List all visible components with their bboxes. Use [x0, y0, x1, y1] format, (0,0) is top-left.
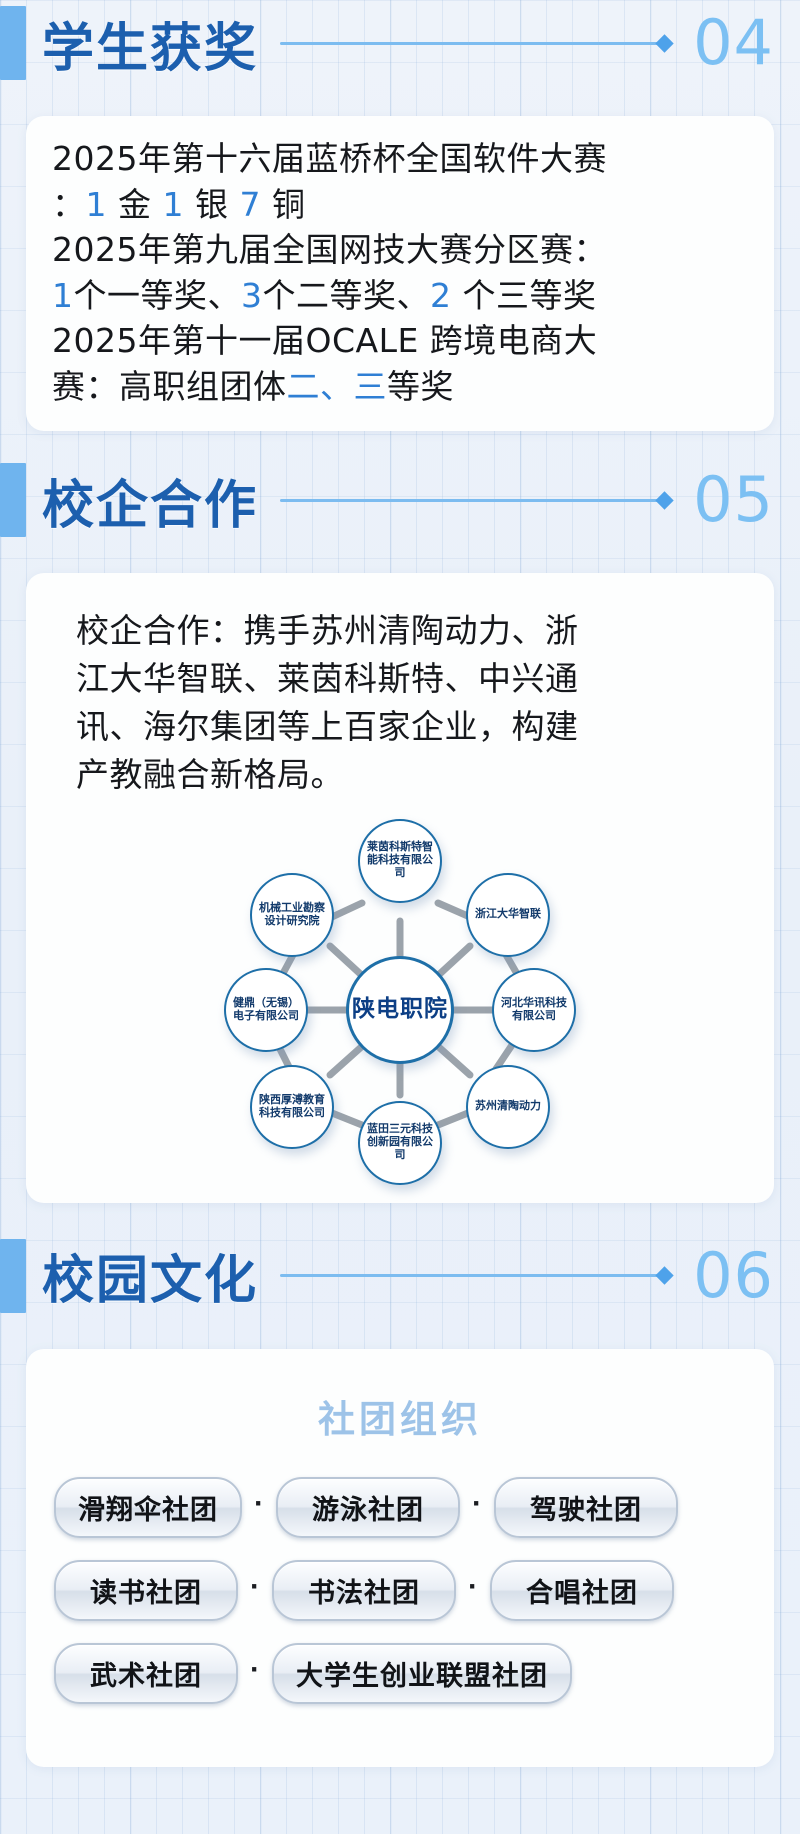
coop-line-2: 江大华智联、莱茵科斯特、中兴通 [76, 655, 740, 703]
partner-label: 陕西厚溥教育科技有限公司 [256, 1094, 328, 1120]
partner-label: 苏州清陶动力 [475, 1100, 541, 1113]
first-prize-unit: 个一等奖、 [74, 276, 242, 315]
diamond-icon [655, 1266, 673, 1284]
third-prize-count: 2 [430, 276, 452, 315]
accent-bar [0, 463, 26, 537]
header-accent-strip-05 [26, 549, 774, 563]
club-separator: · [248, 1572, 262, 1608]
club-separator: · [252, 1489, 266, 1525]
partner-node-hebei: 河北华讯科技有限公司 [492, 968, 576, 1052]
award-line-2: 2025年第九届全国网技大赛分区赛： [52, 227, 748, 273]
header-accent-strip-06 [26, 1325, 774, 1339]
club-row-1: 滑翔伞社团 · 游泳社团 · 驾驶社团 [26, 1477, 774, 1560]
partner-node-center-school: 陕电职院 [346, 956, 454, 1064]
silver-count: 1 [162, 185, 184, 224]
award-line-4-lead: 赛：高职组团体 [52, 367, 287, 406]
gold-count: 1 [86, 185, 108, 224]
award-line-2b: 1个一等奖、3个二等奖、2 个三等奖 [52, 273, 748, 319]
award-line-1b: ：1 金 1 银 7 铜 [52, 182, 748, 228]
club-pill[interactable]: 读书社团 [54, 1560, 238, 1621]
partner-node-jixie: 机械工业勘察设计研究院 [250, 873, 334, 957]
section-title: 校园文化 [42, 1238, 258, 1313]
gold-unit: 金 [107, 185, 162, 224]
ocale-third-prize: 三 [354, 367, 388, 406]
header-lead-line [280, 498, 671, 502]
coop-line-1: 校企合作：携手苏州清陶动力、浙 [76, 607, 740, 655]
club-separator: · [466, 1572, 480, 1608]
coop-line-4: 产教融合新格局。 [76, 751, 740, 799]
awards-text: 2025年第十六届蓝桥杯全国软件大赛 ：1 金 1 银 7 铜 2025年第九届… [26, 116, 774, 431]
partner-label: 河北华讯科技有限公司 [498, 997, 570, 1023]
header-lead-line [280, 1274, 671, 1278]
club-pill[interactable]: 合唱社团 [490, 1560, 674, 1621]
club-section-title: 社团组织 [26, 1349, 774, 1477]
cooperation-text: 校企合作：携手苏州清陶动力、浙 江大华智联、莱茵科斯特、中兴通 讯、海尔集团等上… [26, 573, 774, 804]
bronze-count: 7 [239, 185, 261, 224]
award-line-1: 2025年第十六届蓝桥杯全国软件大赛 [52, 136, 748, 182]
cooperation-card: 校企合作：携手苏州清陶动力、浙 江大华智联、莱茵科斯特、中兴通 讯、海尔集团等上… [26, 573, 774, 1202]
second-prize-count: 3 [241, 276, 263, 315]
club-pill[interactable]: 武术社团 [54, 1643, 238, 1704]
partner-label: 蓝田三元科技创新园有限公司 [364, 1123, 436, 1161]
award-line-3-text: 2025年第十一届OCALE 跨境电商大 [52, 321, 597, 360]
diamond-icon [655, 491, 673, 509]
section-header-05: 校企合作 05 [0, 457, 800, 543]
lead-line [280, 1274, 660, 1277]
club-row-3: 武术社团 · 大学生创业联盟社团 [26, 1643, 774, 1726]
third-prize-unit: 个三等奖 [452, 276, 597, 315]
partner-node-laiyin: 莱茵科斯特智能科技有限公司 [358, 819, 442, 903]
partner-node-zhejiang: 浙江大华智联 [466, 873, 550, 957]
club-pill[interactable]: 驾驶社团 [494, 1477, 678, 1538]
accent-bar [0, 1239, 26, 1313]
bronze-unit: 铜 [261, 185, 306, 224]
section-header-04: 学生获奖 04 [0, 0, 800, 86]
partner-network-diagram: 莱茵科斯特智能科技有限公司 浙江大华智联 河北华讯科技有限公司 苏州清陶动力 蓝… [220, 813, 580, 1203]
section-number: 05 [693, 469, 774, 531]
club-separator: · [470, 1489, 484, 1525]
awards-card: 2025年第十六届蓝桥杯全国软件大赛 ：1 金 1 银 7 铜 2025年第九届… [26, 116, 774, 431]
ocale-second-prize: 二、 [287, 367, 354, 406]
award-colon: ： [52, 185, 86, 224]
partner-node-jianding: 健鼎（无锡）电子有限公司 [224, 968, 308, 1052]
coop-line-3: 讯、海尔集团等上百家企业，构建 [76, 703, 740, 751]
diamond-icon [655, 34, 673, 52]
club-pill[interactable]: 书法社团 [272, 1560, 456, 1621]
club-separator: · [248, 1655, 262, 1691]
partner-label: 健鼎（无锡）电子有限公司 [230, 997, 302, 1023]
section-title: 校企合作 [42, 463, 258, 538]
header-accent-strip-04 [26, 92, 774, 106]
section-header-06: 校园文化 06 [0, 1233, 800, 1319]
club-row-2: 读书社团 · 书法社团 · 合唱社团 [26, 1560, 774, 1643]
lead-line [280, 42, 660, 45]
club-pill[interactable]: 大学生创业联盟社团 [272, 1643, 572, 1704]
partner-node-suzhou: 苏州清陶动力 [466, 1065, 550, 1149]
club-pill[interactable]: 滑翔伞社团 [54, 1477, 242, 1538]
partner-label: 莱茵科斯特智能科技有限公司 [364, 841, 436, 879]
lead-line [280, 499, 660, 502]
award-line-3: 2025年第十一届OCALE 跨境电商大 [52, 318, 748, 364]
award-line-1-text: 2025年第十六届蓝桥杯全国软件大赛 [52, 139, 607, 178]
section-title: 学生获奖 [42, 6, 258, 81]
partner-label: 机械工业勘察设计研究院 [256, 902, 328, 928]
section-number: 04 [693, 12, 774, 74]
section-number: 06 [693, 1245, 774, 1307]
partner-node-lantian: 蓝田三元科技创新园有限公司 [358, 1101, 442, 1185]
second-prize-unit: 个二等奖、 [263, 276, 431, 315]
first-prize-count: 1 [52, 276, 74, 315]
campus-culture-card: 社团组织 滑翔伞社团 · 游泳社团 · 驾驶社团 读书社团 · 书法社团 · 合… [26, 1349, 774, 1767]
partner-label: 浙江大华智联 [475, 908, 541, 921]
partner-node-shaanxi: 陕西厚溥教育科技有限公司 [250, 1065, 334, 1149]
award-line-2-text: 2025年第九届全国网技大赛分区赛： [52, 230, 607, 269]
infographic-page: 学生获奖 04 2025年第十六届蓝桥杯全国软件大赛 ：1 金 1 银 7 铜 … [0, 0, 800, 1834]
accent-bar [0, 6, 26, 80]
ocale-suffix: 等奖 [387, 367, 454, 406]
header-lead-line [280, 41, 671, 45]
center-label: 陕电职院 [352, 996, 448, 1023]
club-pill[interactable]: 游泳社团 [276, 1477, 460, 1538]
silver-unit: 银 [184, 185, 239, 224]
award-line-4: 赛：高职组团体二、三等奖 [52, 364, 748, 410]
